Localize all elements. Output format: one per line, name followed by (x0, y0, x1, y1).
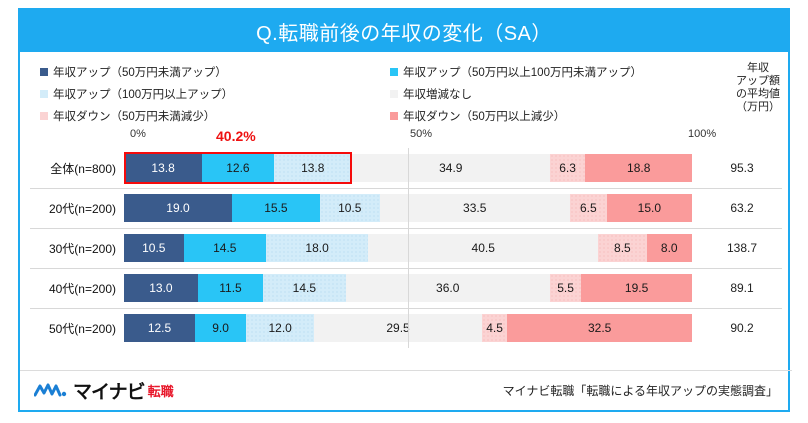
legend-item-3: 年収増減なし (390, 86, 700, 102)
legend-swatch-icon (40, 90, 48, 98)
row-divider (30, 188, 782, 189)
mynavi-logo: マイナビ 転職 (34, 377, 174, 404)
average-value: 90.2 (692, 321, 792, 335)
chart-row: 40代(n=200)13.011.514.536.05.519.589.1 (20, 268, 792, 308)
legend-item-0: 年収アップ（50万円未満アップ） (40, 64, 390, 80)
stacked-bar: 13.011.514.536.05.519.5 (124, 274, 692, 302)
legend-label: 年収アップ（50万円未満アップ） (53, 64, 227, 80)
chart-title-bar: Q.転職前後の年収の変化（SA） (20, 10, 788, 52)
bar-segment: 11.5 (198, 274, 263, 302)
row-label: 20代(n=200) (20, 200, 124, 217)
stacked-bar: 10.514.518.040.58.58.0 (124, 234, 692, 262)
legend-item-5: 年収ダウン（50万円以上減少） (390, 108, 700, 124)
row-divider (30, 268, 782, 269)
legend-item-4: 年収ダウン（50万円未満減少） (40, 108, 390, 124)
bar-segment: 15.0 (607, 194, 692, 222)
bar-segment: 32.5 (507, 314, 692, 342)
chart-card: Q.転職前後の年収の変化（SA） 年収アップ（50万円未満アップ） 年収アップ（… (18, 8, 790, 412)
average-header-line: の平均値 (714, 88, 802, 101)
bar-segment: 13.8 (274, 154, 352, 182)
average-value: 63.2 (692, 201, 792, 215)
legend-swatch-icon (390, 90, 398, 98)
bar-segment: 6.3 (550, 154, 586, 182)
mynavi-wave-icon (34, 381, 68, 401)
row-label: 全体(n=800) (20, 160, 124, 177)
average-value: 89.1 (692, 281, 792, 295)
bar-segment: 8.0 (647, 234, 692, 262)
chart-row: 20代(n=200)19.015.510.533.56.515.063.2 (20, 188, 792, 228)
gridline-50 (408, 268, 409, 308)
row-divider (30, 308, 782, 309)
bar-segment: 12.6 (202, 154, 273, 182)
bar-segment: 4.5 (482, 314, 508, 342)
bar-segment: 15.5 (232, 194, 320, 222)
bar-segment: 10.5 (320, 194, 380, 222)
legend-label: 年収増減なし (403, 86, 472, 102)
bar-segment: 9.0 (195, 314, 246, 342)
legend-label: 年収アップ（50万円以上100万円未満アップ） (403, 64, 642, 80)
chart-row: 全体(n=800)13.812.613.834.96.318.895.3 (20, 148, 792, 188)
gridline-50 (408, 148, 409, 188)
x-axis: 0% 40.2% 50% 100% (20, 128, 792, 146)
row-label: 30代(n=200) (20, 240, 124, 257)
axis-tick-0: 0% (130, 128, 146, 140)
average-value: 138.7 (692, 241, 792, 255)
bar-segment: 13.8 (124, 154, 202, 182)
average-header-line: 年収 (714, 62, 802, 75)
logo-subtext: 転職 (148, 381, 174, 400)
legend-item-1: 年収アップ（50万円以上100万円未満アップ） (390, 64, 700, 80)
average-header-line: （万円） (714, 101, 802, 114)
chart-footer: マイナビ 転職 マイナビ転職「転職による年収アップの実態調査」 (20, 370, 792, 410)
bar-segment: 10.5 (124, 234, 184, 262)
stacked-bar: 13.812.613.834.96.318.8 (124, 154, 692, 182)
bar-segment: 12.0 (246, 314, 314, 342)
gridline-50 (408, 228, 409, 268)
legend-swatch-icon (40, 112, 48, 120)
stacked-bar: 12.59.012.029.54.532.5 (124, 314, 692, 342)
stacked-bar: 19.015.510.533.56.515.0 (124, 194, 692, 222)
axis-tick-50: 50% (410, 128, 432, 140)
gridline-50 (408, 308, 409, 348)
highlight-annotation: 40.2% (216, 128, 256, 144)
bar-segment: 19.5 (581, 274, 692, 302)
bar-segment: 14.5 (263, 274, 345, 302)
average-header-line: アップ額 (714, 75, 802, 88)
gridline-50 (408, 188, 409, 228)
bar-segment: 34.9 (352, 154, 550, 182)
chart-row: 50代(n=200)12.59.012.029.54.532.590.2 (20, 308, 792, 348)
axis-tick-100: 100% (688, 128, 716, 140)
chart-legend: 年収アップ（50万円未満アップ） 年収アップ（50万円以上100万円未満アップ）… (40, 64, 700, 124)
row-label: 40代(n=200) (20, 280, 124, 297)
legend-label: 年収アップ（100万円以上アップ） (53, 86, 233, 102)
chart-body: 年収アップ（50万円未満アップ） 年収アップ（50万円以上100万円未満アップ）… (20, 52, 788, 410)
bar-segment: 19.0 (124, 194, 232, 222)
bar-segment: 14.5 (184, 234, 266, 262)
source-note: マイナビ転職「転職による年収アップの実態調査」 (503, 382, 778, 399)
bar-segment: 40.5 (368, 234, 598, 262)
legend-swatch-icon (40, 68, 48, 76)
bar-segment: 18.8 (585, 154, 692, 182)
legend-item-2: 年収アップ（100万円以上アップ） (40, 86, 390, 102)
legend-label: 年収ダウン（50万円未満減少） (53, 108, 215, 124)
bar-segment: 29.5 (314, 314, 482, 342)
bar-segment: 36.0 (346, 274, 550, 302)
legend-swatch-icon (390, 112, 398, 120)
bar-segment: 18.0 (266, 234, 368, 262)
bar-segment: 12.5 (124, 314, 195, 342)
logo-text: マイナビ (73, 377, 145, 404)
average-column-header: 年収 アップ額 の平均値 （万円） (714, 62, 802, 114)
bar-segment: 8.5 (598, 234, 646, 262)
page-title: Q.転職前後の年収の変化（SA） (256, 17, 552, 46)
chart-rows: 全体(n=800)13.812.613.834.96.318.895.320代(… (20, 148, 792, 348)
legend-swatch-icon (390, 68, 398, 76)
row-label: 50代(n=200) (20, 320, 124, 337)
bar-segment: 5.5 (550, 274, 581, 302)
bar-segment: 6.5 (570, 194, 607, 222)
chart-row: 30代(n=200)10.514.518.040.58.58.0138.7 (20, 228, 792, 268)
row-divider (30, 228, 782, 229)
legend-label: 年収ダウン（50万円以上減少） (403, 108, 565, 124)
average-value: 95.3 (692, 161, 792, 175)
bar-segment: 13.0 (124, 274, 198, 302)
